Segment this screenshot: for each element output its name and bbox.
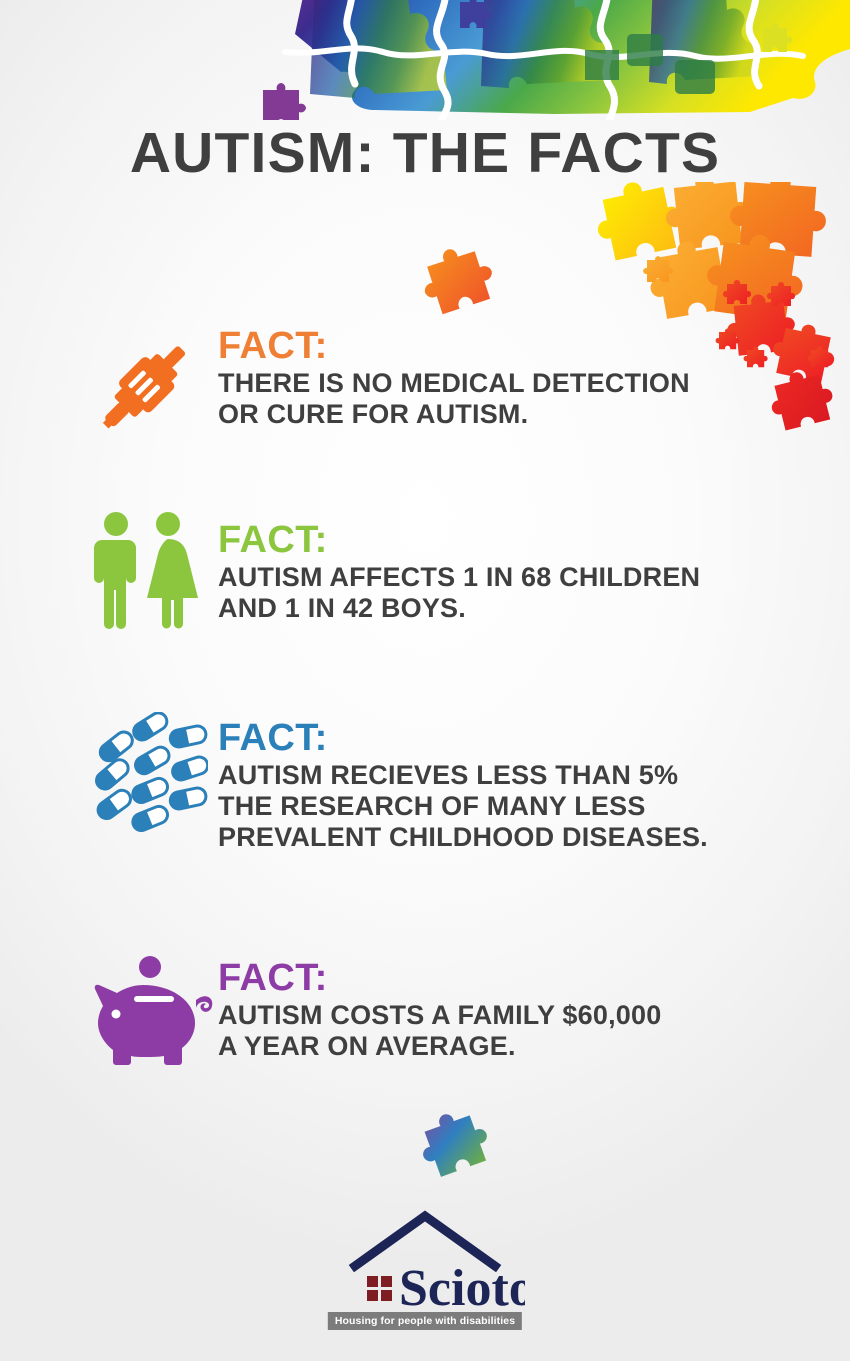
window-grid-icon: [367, 1276, 392, 1301]
fact-text-1-line-1: THERE IS NO MEDICAL DETECTION: [218, 368, 818, 399]
fact-text-4-line-1: AUTISM COSTS A FAMILY $60,000: [218, 1000, 818, 1031]
house-roof-icon: [355, 1216, 495, 1266]
syringe-icon: [88, 326, 208, 446]
puzzle-banner: [255, 0, 850, 120]
fact-text-3-line-1: AUTISM RECIEVES LESS THAN 5%: [218, 760, 818, 791]
fact-text-1-line-2: OR CURE FOR AUTISM.: [218, 399, 818, 430]
fact-text-4-line-2: A YEAR ON AVERAGE.: [218, 1031, 818, 1062]
infographic-poster: AUTISM: THE FACTS: [0, 0, 850, 1361]
fact-text-2-line-1: AUTISM AFFECTS 1 IN 68 CHILDREN: [218, 562, 818, 593]
puzzle-piece-orange-icon: [418, 248, 498, 320]
footer-logo: Scioto Housing for people with disabilit…: [0, 1208, 850, 1343]
scioto-logo-svg: Scioto: [325, 1208, 525, 1318]
fact-text-3-line-2: THE RESEARCH OF MANY LESS: [218, 791, 818, 822]
fact-body-1: FACT: THERE IS NO MEDICAL DETECTION OR C…: [218, 326, 818, 430]
people-icon: [88, 508, 208, 628]
fact-label-1: FACT:: [218, 326, 818, 366]
page-title: AUTISM: THE FACTS: [0, 122, 850, 184]
fact-label-2: FACT:: [218, 520, 818, 560]
fact-label-3: FACT:: [218, 718, 818, 758]
logo-wordmark: Scioto: [399, 1260, 525, 1317]
fact-text-2-line-2: AND 1 IN 42 BOYS.: [218, 593, 818, 624]
puzzle-piece-blue-green-icon: [418, 1112, 494, 1184]
fact-text-3-line-3: PREVALENT CHILDHOOD DISEASES.: [218, 822, 818, 853]
fact-body-2: FACT: AUTISM AFFECTS 1 IN 68 CHILDREN AN…: [218, 520, 818, 624]
fact-body-4: FACT: AUTISM COSTS A FAMILY $60,000 A YE…: [218, 958, 818, 1062]
fact-label-4: FACT:: [218, 958, 818, 998]
fact-body-3: FACT: AUTISM RECIEVES LESS THAN 5% THE R…: [218, 718, 818, 853]
piggy-bank-icon: [88, 954, 208, 1074]
logo-tagline: Housing for people with disabilities: [328, 1312, 522, 1330]
pills-icon: [88, 712, 208, 832]
